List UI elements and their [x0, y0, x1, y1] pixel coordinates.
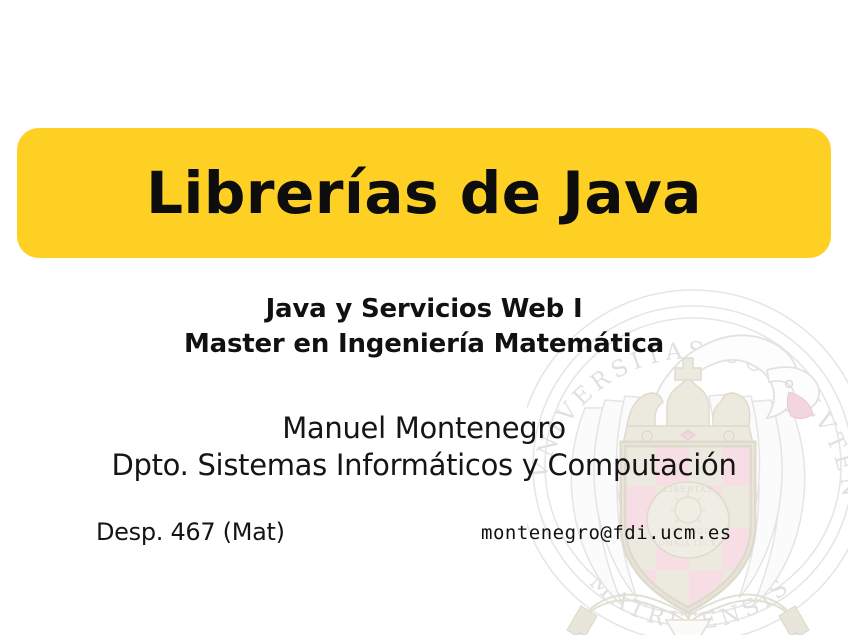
email-address[interactable]: montenegro@fdi.ucm.es — [481, 522, 732, 544]
svg-text:LIBERTAS: LIBERTAS — [663, 485, 713, 494]
course-subtitle: Java y Servicios Web I Master en Ingenie… — [0, 292, 848, 362]
slide-canvas: VNIVERSITAS COMPLVTENSIS MATRITENSIS — [0, 0, 848, 635]
crest-pendant — [666, 620, 710, 635]
author-name: Manuel Montenegro — [0, 410, 848, 447]
crest-swan-eye — [786, 381, 793, 388]
program-name: Master en Ingeniería Matemática — [0, 327, 848, 362]
contact-footer: Desp. 467 (Mat) montenegro@fdi.ucm.es — [0, 518, 848, 558]
crest-cords — [587, 595, 789, 624]
office-location: Desp. 467 (Mat) — [96, 518, 285, 546]
title-banner: Librerías de Java — [17, 128, 831, 258]
course-name: Java y Servicios Web I — [0, 292, 848, 327]
page-title: Librerías de Java — [146, 164, 702, 222]
crest-tassels — [567, 606, 809, 635]
author-department: Dpto. Sistemas Informáticos y Computació… — [0, 447, 848, 484]
svg-text:MATRITENSIS: MATRITENSIS — [584, 569, 797, 635]
author-block: Manuel Montenegro Dpto. Sistemas Informá… — [0, 410, 848, 484]
